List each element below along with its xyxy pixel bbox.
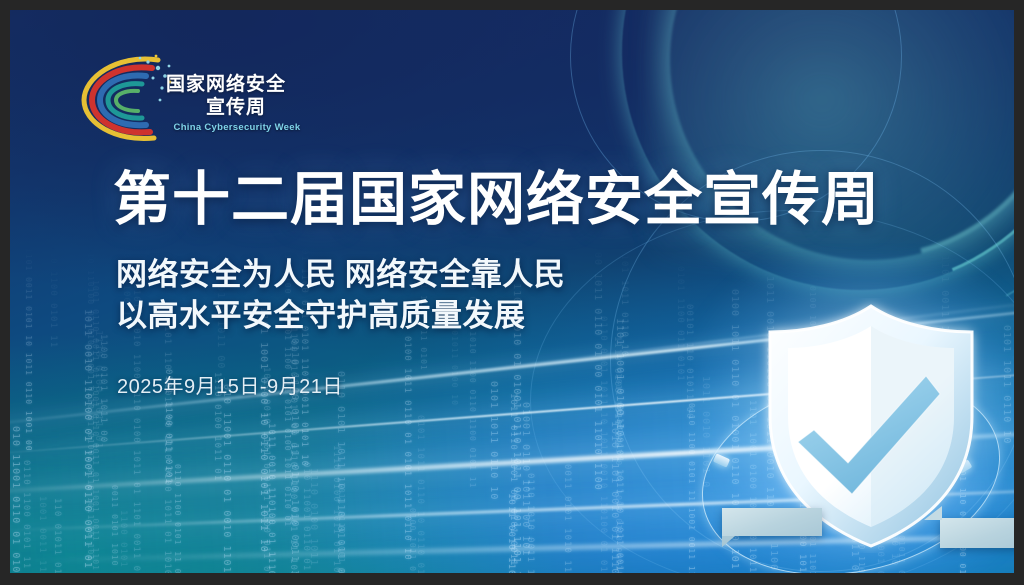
poster-frame: 1010 1101 0010 01 1110 0100 1011 01 0101…	[0, 0, 1024, 585]
vignette-overlay	[10, 10, 1014, 573]
poster-canvas: 1010 1101 0010 01 1110 0100 1011 01 0101…	[10, 10, 1014, 573]
